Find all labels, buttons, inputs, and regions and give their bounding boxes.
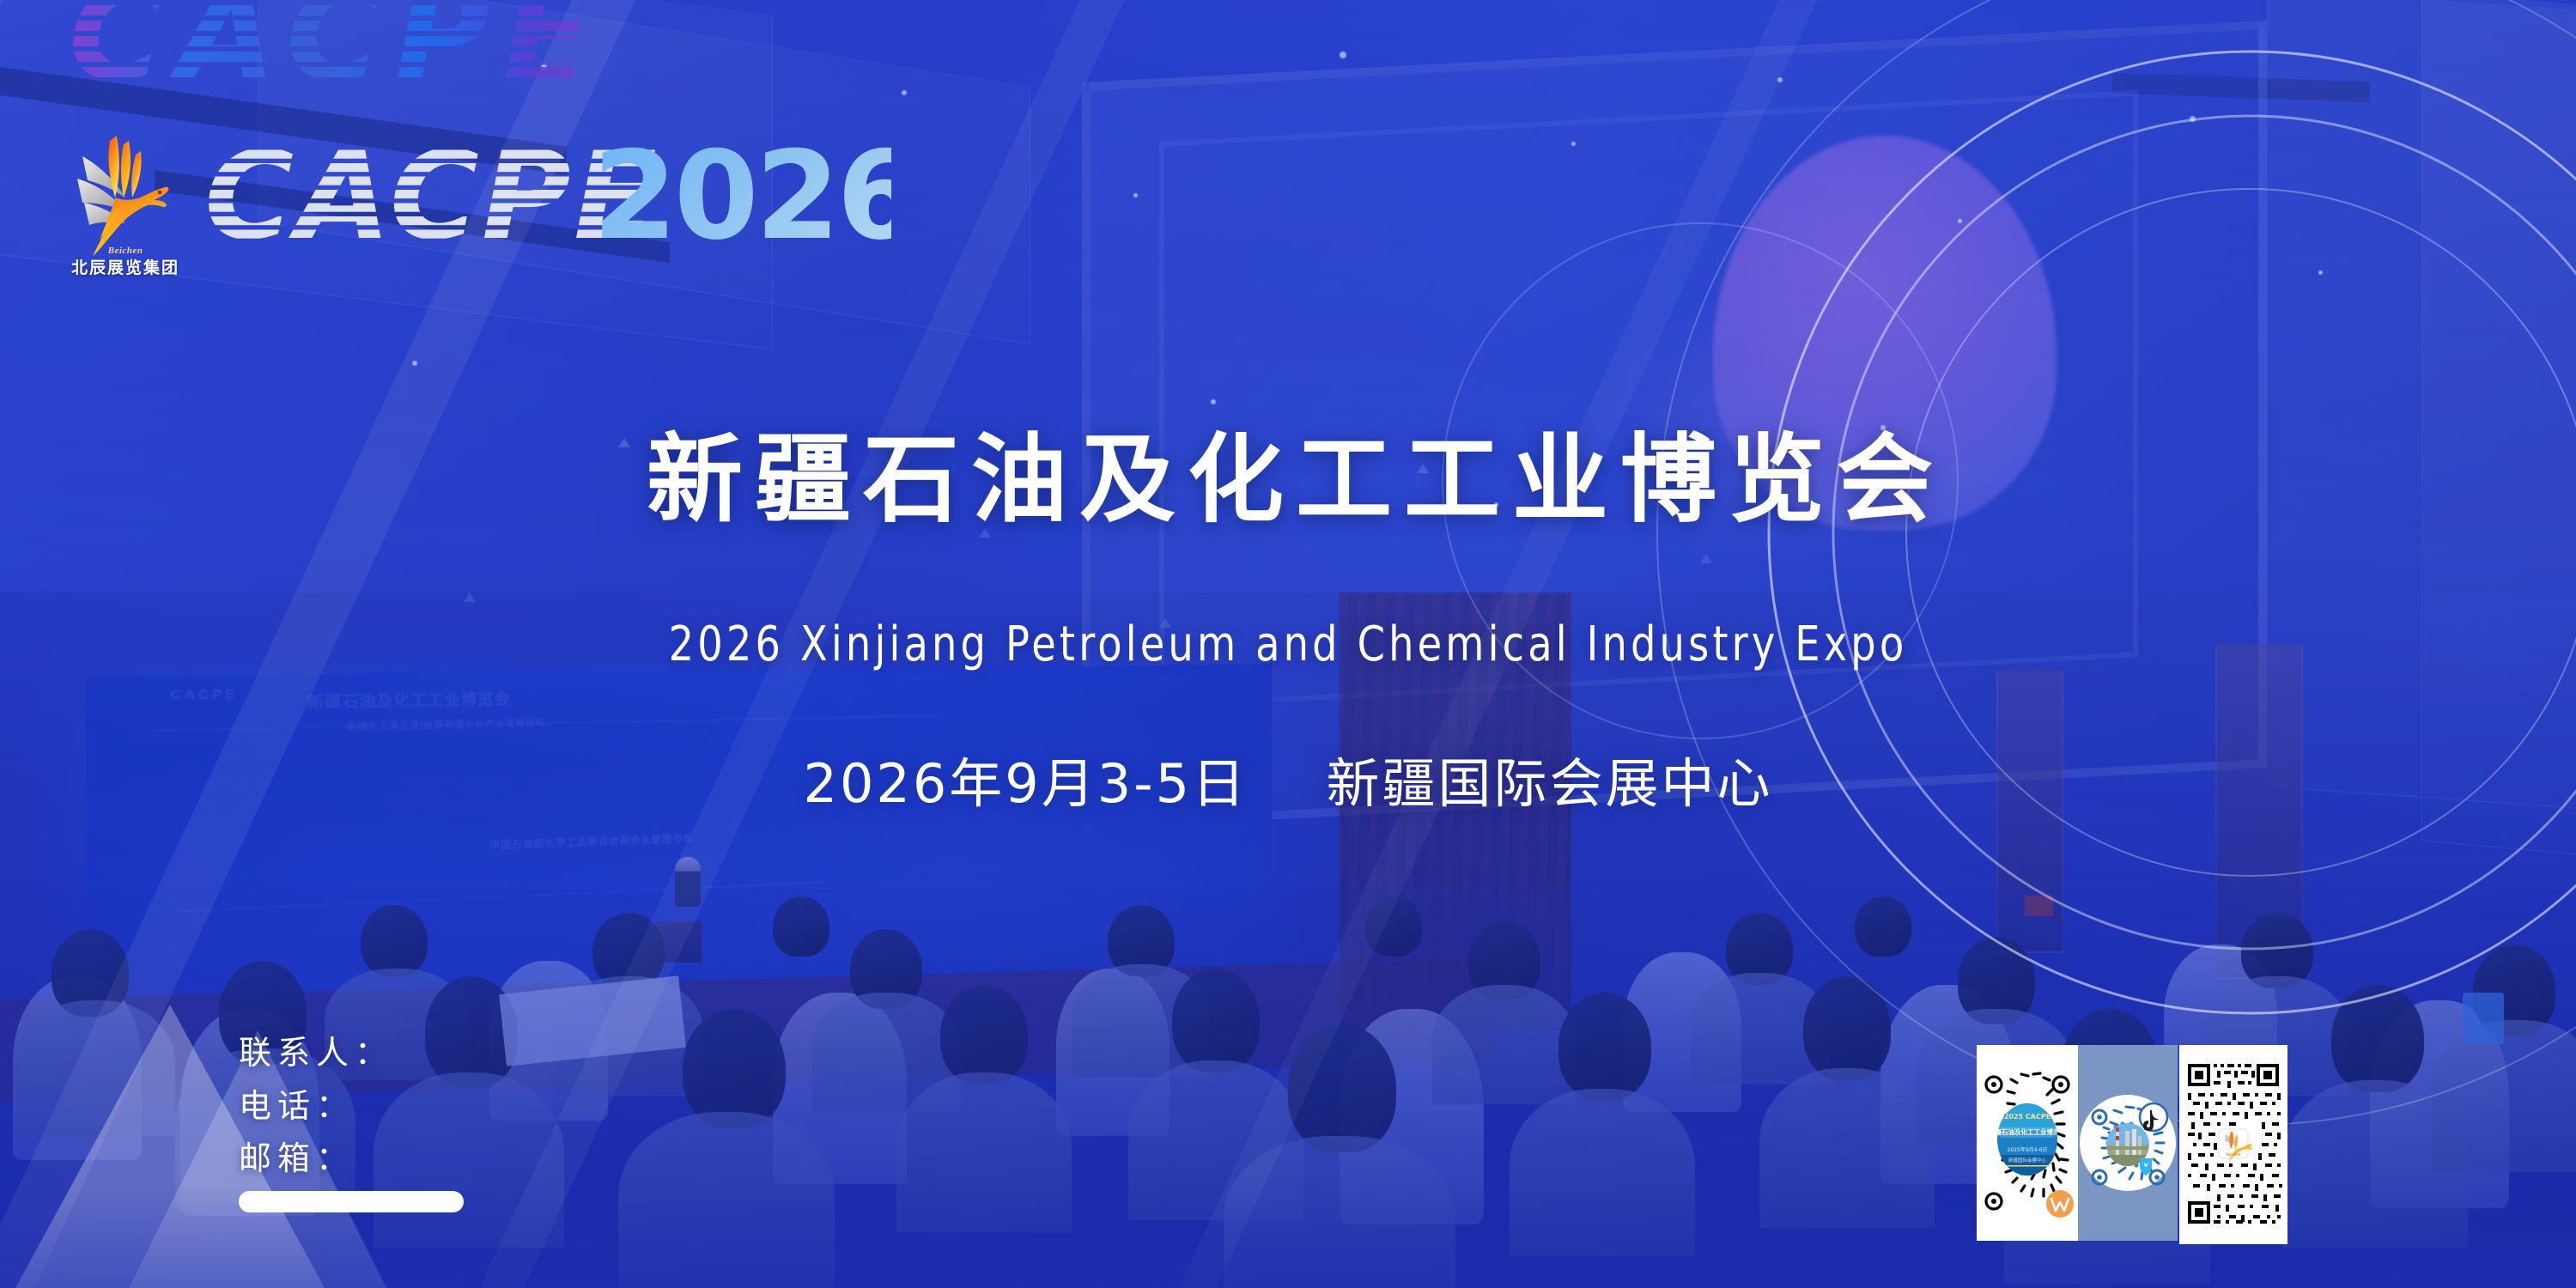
qr-center-caption-1: 2025 CACPE	[2004, 1113, 2050, 1121]
venue-text: 新疆国际会展中心	[1326, 752, 1772, 815]
qr-center-caption-2: 新疆石油及化工工业博览会	[1989, 1127, 2066, 1136]
page-title-cn: 新疆石油及化工工业博览会	[0, 427, 2576, 534]
cacpe-wordmark: CACPE 2026	[204, 137, 891, 257]
cacpe-acronym: CACPE 2026	[204, 137, 891, 257]
svg-text:Beichen: Beichen	[2226, 1153, 2241, 1157]
contact-email-label: 邮箱：	[239, 1133, 464, 1186]
date-venue-line: 2026年9月3-5日 新疆国际会展中心	[0, 740, 2576, 817]
cacpe-watermark: CACPE	[69, 0, 1082, 103]
contact-person-label: 联系人：	[239, 1027, 464, 1080]
wechat-miniprogram-qr[interactable]: 2025 CACPE 新疆石油及化工工业博览会 2025年9月4-6日 新疆国际…	[1977, 1045, 2078, 1241]
qr-code-row: 2025 CACPE 新疆石油及化工工业博览会 2025年9月4-6日 新疆国际…	[1977, 1045, 2287, 1244]
douyin-note-icon	[2140, 1103, 2167, 1131]
svg-text:v: v	[2143, 1161, 2148, 1169]
page-title-en: 2026 Xinjiang Petroleum and Chemical Ind…	[103, 617, 2473, 672]
contact-phone-label: 电话：	[239, 1080, 464, 1133]
expo-poster: 新疆石油及化工工业博览会 新疆化工展览会/丝路新疆石化产业发展论坛 CACPE …	[0, 0, 2576, 1288]
redacted-contact-bar	[239, 1191, 464, 1212]
svg-text:CACPE: CACPE	[69, 0, 605, 103]
brand-cn-name: 北辰展览集团	[69, 255, 182, 278]
date-text: 2026年9月3-5日	[804, 752, 1249, 815]
wechat-channels-icon	[2046, 1190, 2074, 1218]
svg-text:CACPE: CACPE	[204, 137, 659, 257]
qr-center-caption-3: 2025年9月4-6日	[2008, 1146, 2048, 1153]
brand-year-text: 2026	[592, 137, 891, 257]
douyin-qr[interactable]: v	[2078, 1045, 2178, 1241]
qr-center-caption-4: 新疆国际会展中心	[2008, 1157, 2047, 1163]
brand-logo-row: Beichen 北辰展览集团	[69, 127, 891, 280]
phoenix-icon: Beichen 北辰展览集团	[69, 127, 182, 280]
contact-block: 联系人： 电话： 邮箱：	[239, 1027, 464, 1212]
website-qr[interactable]: Beichen	[2179, 1045, 2287, 1244]
